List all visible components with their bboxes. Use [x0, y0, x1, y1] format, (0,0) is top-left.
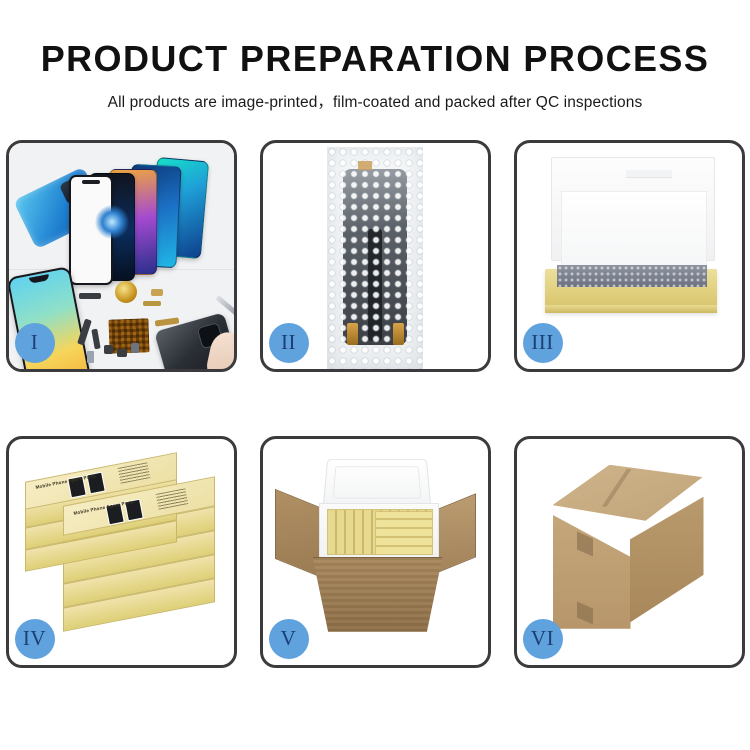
page-title: PRODUCT PREPARATION PROCESS: [0, 40, 750, 78]
antistatic-bubble-fill: [557, 265, 707, 287]
gold-coil-part: [115, 281, 137, 303]
process-step-panel-6[interactable]: VI: [514, 436, 745, 668]
process-step-panel-2[interactable]: II: [260, 140, 491, 372]
step-badge-4: IV: [15, 619, 55, 659]
process-step-panel-4[interactable]: Mobile Phone Spare Parts Mobile Phone Sp…: [6, 436, 237, 668]
step-badge-6: VI: [523, 619, 563, 659]
spare-part-f: [131, 343, 139, 353]
lid-tab: [626, 170, 672, 178]
step-badge-1: I: [15, 323, 55, 363]
process-steps-grid: I II III: [0, 140, 750, 668]
packed-yellow-boxes-b: [375, 511, 433, 555]
spare-part-c: [143, 301, 161, 306]
screen-glow-graphic: [95, 205, 129, 239]
process-step-panel-3[interactable]: III: [514, 140, 745, 372]
spare-part-e: [117, 349, 127, 357]
process-step-panel-5[interactable]: V: [260, 436, 491, 668]
foam-cooler-lid: [322, 459, 431, 507]
connector-right: [393, 323, 404, 345]
carton-texture: [313, 558, 443, 632]
tray-front-lip: [545, 305, 717, 313]
bag-seal-tape: [358, 161, 372, 170]
spare-part-g: [87, 351, 94, 363]
process-step-panel-1[interactable]: I: [6, 140, 237, 372]
step-badge-2: II: [269, 323, 309, 363]
connector-left: [347, 323, 358, 345]
step-badge-5: V: [269, 619, 309, 659]
bubble-wrap-bag: [327, 147, 423, 369]
spare-part-d: [104, 345, 113, 354]
spare-part-a: [79, 293, 101, 299]
page-subtitle: All products are image-printed，film-coat…: [0, 90, 750, 112]
spare-part-b: [151, 289, 163, 296]
connector-pin-array: [108, 318, 149, 353]
page-header: PRODUCT PREPARATION PROCESS All products…: [0, 0, 750, 112]
bubble-wrap-texture: [327, 147, 423, 369]
step-badge-3: III: [523, 323, 563, 363]
carton-body: [313, 557, 443, 632]
